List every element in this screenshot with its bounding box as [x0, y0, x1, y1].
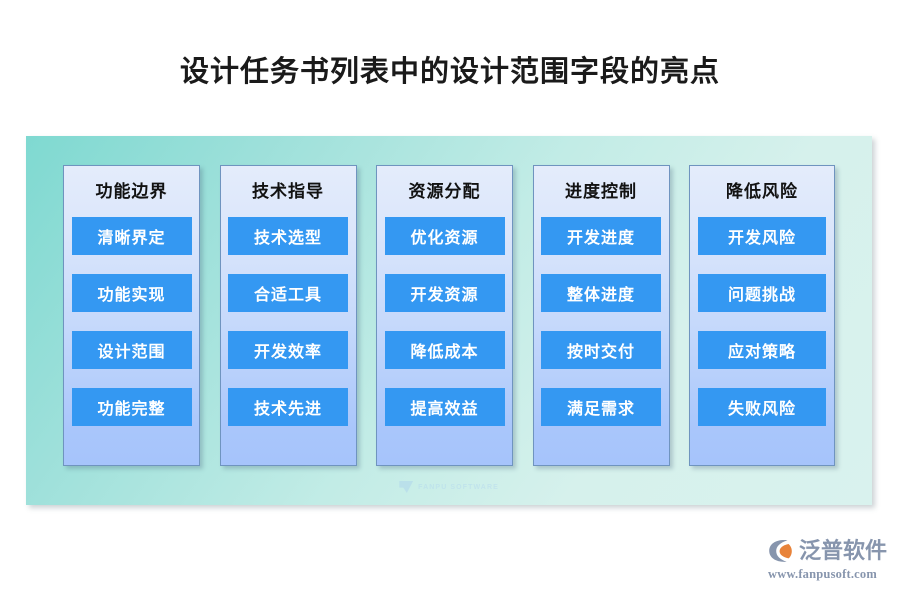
diagram-board: 功能边界 清晰界定 功能实现 设计范围 功能完整 技术指导 技术选型 合适工具 … [26, 136, 872, 505]
brand-logo: 泛普软件 www.fanpusoft.com [768, 536, 892, 586]
column-group: 功能边界 清晰界定 功能实现 设计范围 功能完整 技术指导 技术选型 合适工具 … [63, 165, 835, 466]
column-card-1[interactable]: 功能边界 清晰界定 功能实现 设计范围 功能完整 [63, 165, 200, 466]
column-header-3: 资源分配 [409, 177, 481, 202]
board-watermark-label: FANPU SOFTWARE [418, 484, 499, 491]
chip-item[interactable]: 按时交付 [541, 331, 661, 369]
fanpu-logo-icon [768, 538, 796, 564]
chip-item[interactable]: 整体进度 [541, 274, 661, 312]
chip-list-3: 优化资源 开发资源 降低成本 提高效益 [377, 217, 512, 426]
fanpu-mark-icon [399, 481, 413, 493]
chip-item[interactable]: 应对策略 [698, 331, 826, 369]
chip-item[interactable]: 开发效率 [228, 331, 348, 369]
brand-url: www.fanpusoft.com [768, 567, 892, 582]
chip-item[interactable]: 技术选型 [228, 217, 348, 255]
chip-item[interactable]: 清晰界定 [72, 217, 192, 255]
chip-item[interactable]: 合适工具 [228, 274, 348, 312]
chip-list-5: 开发风险 问题挑战 应对策略 失败风险 [690, 217, 834, 426]
chip-item[interactable]: 功能完整 [72, 388, 192, 426]
chip-item[interactable]: 技术先进 [228, 388, 348, 426]
chip-item[interactable]: 失败风险 [698, 388, 826, 426]
chip-list-2: 技术选型 合适工具 开发效率 技术先进 [221, 217, 356, 426]
page-title: 设计任务书列表中的设计范围字段的亮点 [0, 55, 900, 90]
brand-name: 泛普软件 [799, 538, 887, 564]
chip-item[interactable]: 开发进度 [541, 217, 661, 255]
chip-item[interactable]: 优化资源 [385, 217, 505, 255]
column-card-3[interactable]: 资源分配 优化资源 开发资源 降低成本 提高效益 [376, 165, 513, 466]
chip-item[interactable]: 开发资源 [385, 274, 505, 312]
column-header-2: 技术指导 [252, 177, 324, 202]
chip-item[interactable]: 提高效益 [385, 388, 505, 426]
chip-list-1: 清晰界定 功能实现 设计范围 功能完整 [64, 217, 199, 426]
chip-item[interactable]: 开发风险 [698, 217, 826, 255]
chip-item[interactable]: 设计范围 [72, 331, 192, 369]
chip-list-4: 开发进度 整体进度 按时交付 满足需求 [534, 217, 669, 426]
column-card-2[interactable]: 技术指导 技术选型 合适工具 开发效率 技术先进 [220, 165, 357, 466]
chip-item[interactable]: 问题挑战 [698, 274, 826, 312]
board-watermark: FANPU SOFTWARE [399, 481, 499, 493]
chip-item[interactable]: 降低成本 [385, 331, 505, 369]
chip-item[interactable]: 满足需求 [541, 388, 661, 426]
column-header-4: 进度控制 [565, 177, 637, 202]
column-card-4[interactable]: 进度控制 开发进度 整体进度 按时交付 满足需求 [533, 165, 670, 466]
brand-logo-row: 泛普软件 [768, 536, 892, 566]
column-header-5: 降低风险 [726, 177, 798, 202]
chip-item[interactable]: 功能实现 [72, 274, 192, 312]
column-card-5[interactable]: 降低风险 开发风险 问题挑战 应对策略 失败风险 [689, 165, 835, 466]
column-header-1: 功能边界 [96, 177, 168, 202]
